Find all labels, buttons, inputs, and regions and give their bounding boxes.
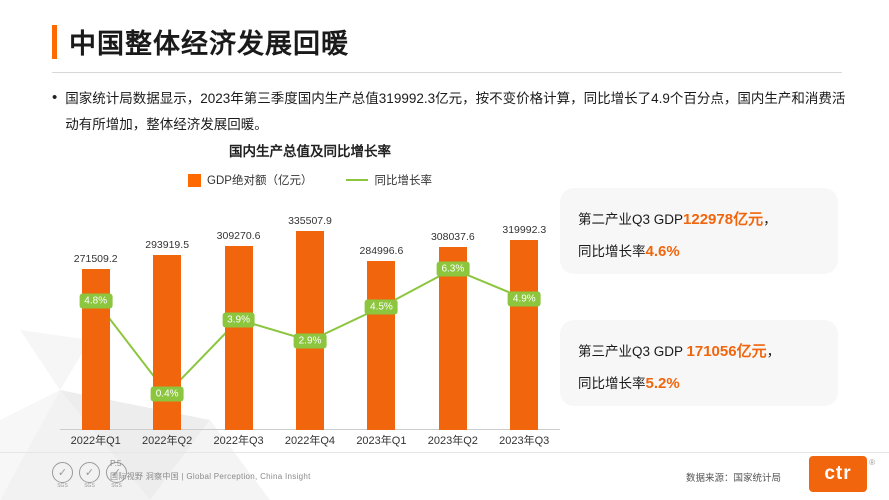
x-axis-label: 2023年Q3 [489,432,560,448]
bar-2023年Q3 [510,240,538,430]
footer-divider [0,452,889,453]
card2-line1-prefix: 第三产业Q3 GDP [578,344,687,359]
card1-line1-value: 122978亿元 [683,211,763,228]
certification-seal-icon: ✓SGS [52,462,73,483]
title-divider [52,72,842,73]
bar-value-label: 308037.6 [418,231,488,243]
card2-line1: 第三产业Q3 GDP 171056亿元， [578,340,780,361]
legend-label-line: 同比增长率 [374,172,432,188]
line-point-label: 4.8% [79,293,112,308]
bar-value-label: 271509.2 [61,253,131,265]
x-axis-labels: 2022年Q12022年Q22022年Q32022年Q42023年Q12023年… [60,432,560,448]
bar-2022年Q2 [153,255,181,430]
bar-value-label: 309270.6 [204,230,274,242]
chart-title: 国内生产总值及同比增长率 [60,140,560,160]
card1-line2-prefix: 同比增长率 [578,244,646,259]
legend-line-icon [346,179,368,181]
card2-line2: 同比增长率5.2% [578,372,680,392]
line-point-label: 6.3% [436,262,469,277]
bullet-marker: • [52,86,57,138]
registered-mark: ® [869,458,875,467]
bar-2022年Q4 [296,231,324,430]
x-axis-label: 2022年Q1 [60,432,131,448]
title-text: 中国整体经济发展回暖 [69,22,349,61]
data-source: 数据来源：国家统计局 [686,470,781,484]
card1-line1-suffix: ， [763,212,777,227]
slide: 中国整体经济发展回暖 • 国家统计局数据显示，2023年第三季度国内生产总值31… [0,0,889,500]
bullet-paragraph: • 国家统计局数据显示，2023年第三季度国内生产总值319992.3亿元，按不… [52,86,852,138]
legend-item-line: 同比增长率 [346,172,432,188]
secondary-industry-card: 第二产业Q3 GDP122978亿元， 同比增长率4.6% [560,188,838,274]
footer-slogan: 国际视野 洞察中国 | Global Perception, China Ins… [110,471,311,482]
legend-item-bar: GDP绝对额（亿元） [188,172,312,188]
bar-2022年Q3 [225,246,253,430]
bar-value-label: 284996.6 [346,245,416,257]
line-point-label: 4.9% [508,291,541,306]
x-axis-label: 2022年Q2 [131,432,202,448]
page-title: 中国整体经济发展回暖 [52,22,349,61]
bar-value-label: 293919.5 [132,239,202,251]
chart-legend: GDP绝对额（亿元） 同比增长率 [60,172,560,188]
card2-line1-suffix: ， [767,344,781,359]
line-point-label: 4.5% [365,300,398,315]
line-point-label: 3.9% [222,312,255,327]
card2-line2-value: 5.2% [646,375,680,392]
line-point-label: 0.4% [151,386,184,401]
gdp-chart: 国内生产总值及同比增长率 GDP绝对额（亿元） 同比增长率 271509.229… [60,140,560,460]
card1-line2-value: 4.6% [646,243,680,260]
page-number: P.5 [110,458,122,468]
card2-line2-prefix: 同比增长率 [578,376,646,391]
card1-line1: 第二产业Q3 GDP122978亿元， [578,208,777,229]
card1-line2: 同比增长率4.6% [578,240,680,260]
bar-value-label: 335507.9 [275,215,345,227]
x-axis-label: 2023年Q2 [417,432,488,448]
card1-line1-prefix: 第二产业Q3 GDP [578,212,683,227]
legend-swatch-icon [188,174,201,187]
bullet-text: 国家统计局数据显示，2023年第三季度国内生产总值319992.3亿元，按不变价… [65,86,852,138]
x-axis-label: 2023年Q1 [346,432,417,448]
card2-line1-value: 171056亿元 [687,343,767,360]
bar-2023年Q1 [367,261,395,430]
chart-plot-area: 271509.2293919.5309270.6335507.9284996.6… [60,198,560,430]
x-axis-label: 2022年Q3 [203,432,274,448]
title-accent-bar [52,25,57,59]
line-point-label: 2.9% [294,333,327,348]
x-axis-label: 2022年Q4 [274,432,345,448]
bar-value-label: 319992.3 [489,224,559,236]
ctr-logo: ctr [809,456,867,492]
certification-seal-icon: ✓SGS [79,462,100,483]
legend-label-bar: GDP绝对额（亿元） [207,172,312,188]
tertiary-industry-card: 第三产业Q3 GDP 171056亿元， 同比增长率5.2% [560,320,838,406]
